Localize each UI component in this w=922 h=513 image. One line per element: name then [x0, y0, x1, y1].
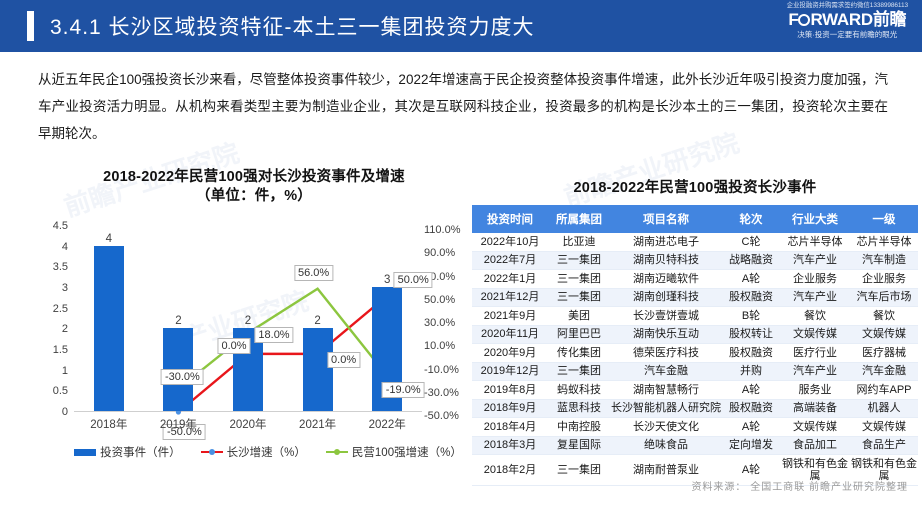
table-row[interactable]: 2019年8月蚂蚁科技湖南智慧畅行A轮服务业网约车APP: [472, 381, 918, 400]
table-cell: 三一集团: [548, 288, 610, 307]
chart-bar: [94, 246, 124, 411]
table-cell: 三一集团: [548, 251, 610, 270]
table-cell: 汽车产业: [780, 362, 850, 381]
table-cell: 湖南快乐互动: [610, 325, 722, 344]
data-point-label: -30.0%: [161, 369, 204, 385]
x-axis-tick: 2018年: [90, 416, 127, 432]
table-row[interactable]: 2022年7月三一集团湖南贝特科技战略融资汽车产业汽车制造: [472, 251, 918, 270]
legend-item[interactable]: 投资事件（件）: [74, 444, 181, 460]
legend-label: 长沙增速（%）: [227, 444, 306, 460]
table-cell: 湖南迈曦软件: [610, 270, 722, 289]
x-axis-tick: 2021年: [299, 416, 336, 432]
table-cell: 湖南智慧畅行: [610, 381, 722, 400]
y-axis-left-tick: 3.5: [53, 261, 68, 273]
source-note: 资料来源： 全国工商联 前瞻产业研究院整理: [691, 478, 908, 493]
table-row[interactable]: 2018年4月中南控股长沙天使文化A轮文娱传媒文娱传媒: [472, 418, 918, 437]
table-cell: 文娱传媒: [850, 325, 918, 344]
table-cell: 医疗器械: [850, 344, 918, 363]
table-row[interactable]: 2021年9月美团长沙壹饼壹城B轮餐饮餐饮: [472, 307, 918, 326]
brand-slogan: 决策·投资一定要有前瞻的眼光: [787, 31, 908, 40]
table-column-header[interactable]: 所属集团: [548, 205, 610, 233]
table-cell: 长沙天使文化: [610, 418, 722, 437]
table-cell: 股权融资: [722, 288, 780, 307]
header-accent-bar: [27, 11, 34, 41]
chart-title-line1: 2018-2022年民营100强对长沙投资事件及增速: [34, 168, 474, 187]
table-cell: 企业服务: [850, 270, 918, 289]
table-cell: 汽车制造: [850, 251, 918, 270]
table-cell: 股权融资: [722, 344, 780, 363]
x-axis-tick: 2020年: [229, 416, 266, 432]
table-cell: 食品生产: [850, 436, 918, 455]
table-cell: 股权融资: [722, 399, 780, 418]
table-cell: 长沙智能机器人研究院: [610, 399, 722, 418]
table-cell: 并购: [722, 362, 780, 381]
table-row[interactable]: 2020年11月阿里巴巴湖南快乐互动股权转让文娱传媒文娱传媒: [472, 325, 918, 344]
y-axis-right-tick: 110.0%: [424, 224, 461, 236]
table-cell: 三一集团: [548, 362, 610, 381]
table-row[interactable]: 2021年12月三一集团湖南创瑾科技股权融资汽车产业汽车后市场: [472, 288, 918, 307]
table-cell: 2021年9月: [472, 307, 548, 326]
brand-contact-text: 企业投融资并购需求签约微信13389986113: [787, 2, 908, 9]
table-cell: 2022年7月: [472, 251, 548, 270]
legend-bar-swatch-icon: [74, 449, 96, 456]
y-axis-left-tick: 2: [62, 323, 68, 335]
table-cell: 2022年10月: [472, 233, 548, 251]
table-title: 2018-2022年民营100强投资长沙事件: [472, 176, 918, 197]
x-axis-tick: 2019年: [160, 416, 197, 432]
table-cell: 定向增发: [722, 436, 780, 455]
table-header-row: 投资时间所属集团项目名称轮次行业大类一级: [472, 205, 918, 233]
table-cell: 食品加工: [780, 436, 850, 455]
x-axis-tick: 2022年: [369, 416, 406, 432]
table-column-header[interactable]: 行业大类: [780, 205, 850, 233]
table-cell: 汽车产业: [780, 288, 850, 307]
x-axis: 2018年2019年2020年2021年2022年: [74, 416, 422, 434]
page-title: 3.4.1 长沙区域投资特征-本土三一集团投资力度大: [50, 11, 535, 41]
bar-value-label: 2: [314, 315, 320, 327]
brand-block: 企业投融资并购需求签约微信13389986113 FRWARD前瞻 决策·投资一…: [787, 2, 908, 40]
forward-ring-icon: [798, 14, 810, 26]
y-axis-left: 4.543.532.521.510.50: [34, 226, 68, 412]
table-cell: 汽车后市场: [850, 288, 918, 307]
data-point-label: 50.0%: [394, 272, 433, 288]
table-cell: 文娱传媒: [850, 418, 918, 437]
table-column-header[interactable]: 轮次: [722, 205, 780, 233]
table-cell: 机器人: [850, 399, 918, 418]
table-cell: 绝味食品: [610, 436, 722, 455]
table-cell: B轮: [722, 307, 780, 326]
table-cell: 比亚迪: [548, 233, 610, 251]
table-column-header[interactable]: 投资时间: [472, 205, 548, 233]
chart-plot-wrap: 4.543.532.521.510.50 110.0%90.0%70.0%50.…: [34, 216, 474, 448]
table-cell: 湖南创瑾科技: [610, 288, 722, 307]
table-row[interactable]: 2022年10月比亚迪湖南进芯电子C轮芯片半导体芯片半导体: [472, 233, 918, 251]
table-cell: A轮: [722, 418, 780, 437]
table-cell: C轮: [722, 233, 780, 251]
table-cell: 中南控股: [548, 418, 610, 437]
table-cell: 汽车金融: [610, 362, 722, 381]
brand-logo: FRWARD前瞻: [787, 10, 908, 30]
table-cell: 蓝思科技: [548, 399, 610, 418]
y-axis-left-tick: 1: [62, 365, 68, 377]
y-axis-right-tick: 50.0%: [424, 294, 455, 306]
events-table-panel: 2018-2022年民营100强投资长沙事件 投资时间所属集团项目名称轮次行业大…: [472, 176, 918, 486]
legend-item[interactable]: 民营100强增速（%）: [326, 444, 462, 460]
bar-value-label: 2: [175, 315, 181, 327]
table-cell: 战略融资: [722, 251, 780, 270]
y-axis-left-tick: 0: [62, 406, 68, 418]
data-point-label: 18.0%: [254, 327, 293, 343]
data-point-label: 56.0%: [294, 265, 333, 281]
brand-logo-pre: F: [788, 10, 798, 29]
y-axis-right-tick: -10.0%: [424, 364, 459, 376]
data-point-label: 0.0%: [217, 338, 250, 354]
table-cell: 传化集团: [548, 344, 610, 363]
table-cell: 2018年3月: [472, 436, 548, 455]
table-cell: A轮: [722, 381, 780, 400]
table-cell: 汽车金融: [850, 362, 918, 381]
slide-page: 3.4.1 长沙区域投资特征-本土三一集团投资力度大 企业投融资并购需求签约微信…: [0, 0, 922, 513]
bar-value-label: 2: [245, 315, 251, 327]
legend-label: 民营100强增速（%）: [352, 444, 462, 460]
table-cell: 网约车APP: [850, 381, 918, 400]
table-cell: A轮: [722, 270, 780, 289]
table-cell: 2018年4月: [472, 418, 548, 437]
table-cell: 复星国际: [548, 436, 610, 455]
table-cell: 2018年9月: [472, 399, 548, 418]
y-axis-left-tick: 1.5: [53, 344, 68, 356]
chart-title-line2: （单位：件，%）: [34, 187, 474, 206]
legend-item[interactable]: 长沙增速（%）: [201, 444, 306, 460]
y-axis-left-tick: 4: [62, 241, 68, 253]
bar-value-label: 4: [106, 233, 112, 245]
legend-line-swatch-icon: [201, 447, 223, 457]
plot-area: 42223-50.0%0.0%0.0%50.0%-30.0%18.0%56.0%…: [74, 226, 422, 412]
data-point-label: 0.0%: [327, 352, 360, 368]
table-cell: 德荣医疗科技: [610, 344, 722, 363]
table-cell: 2019年8月: [472, 381, 548, 400]
y-axis-right-tick: -30.0%: [424, 387, 459, 399]
table-cell: 美团: [548, 307, 610, 326]
table-cell: 文娱传媒: [780, 418, 850, 437]
table-cell: 湖南进芯电子: [610, 233, 722, 251]
bar-value-label: 3: [384, 274, 390, 286]
data-point-label: -19.0%: [382, 382, 425, 398]
table-cell: 三一集团: [548, 270, 610, 289]
intro-paragraph: 从近五年民企100强投资长沙来看，尽管整体投资事件较少，2022年增速高于民企投…: [38, 66, 888, 147]
chart-title: 2018-2022年民营100强对长沙投资事件及增速 （单位：件，%）: [34, 168, 474, 206]
investment-chart: 2018-2022年民营100强对长沙投资事件及增速 （单位：件，%） 4.54…: [34, 168, 474, 508]
events-table: 投资时间所属集团项目名称轮次行业大类一级 2022年10月比亚迪湖南进芯电子C轮…: [472, 205, 918, 486]
table-column-header[interactable]: 项目名称: [610, 205, 722, 233]
y-axis-right-tick: 30.0%: [424, 317, 455, 329]
y-axis-right-tick: 90.0%: [424, 247, 455, 259]
table-cell: 2021年12月: [472, 288, 548, 307]
table-cell: 餐饮: [850, 307, 918, 326]
table-cell: 阿里巴巴: [548, 325, 610, 344]
table-cell: 汽车产业: [780, 251, 850, 270]
chart-bar: [303, 328, 333, 411]
y-axis-left-tick: 4.5: [53, 220, 68, 232]
table-cell: 湖南贝特科技: [610, 251, 722, 270]
table-cell: 服务业: [780, 381, 850, 400]
table-body: 2022年10月比亚迪湖南进芯电子C轮芯片半导体芯片半导体2022年7月三一集团…: [472, 233, 918, 486]
y-axis-left-tick: 3: [62, 282, 68, 294]
table-cell: 文娱传媒: [780, 325, 850, 344]
table-cell: 企业服务: [780, 270, 850, 289]
table-cell: 三一集团: [548, 455, 610, 486]
table-cell: 餐饮: [780, 307, 850, 326]
table-cell: 医疗行业: [780, 344, 850, 363]
chart-legend: 投资事件（件）长沙增速（%）民营100强增速（%）: [58, 444, 478, 460]
table-cell: 2022年1月: [472, 270, 548, 289]
legend-label: 投资事件（件）: [100, 444, 181, 460]
slide-header: 3.4.1 长沙区域投资特征-本土三一集团投资力度大 企业投融资并购需求签约微信…: [0, 0, 922, 52]
y-axis-left-tick: 2.5: [53, 303, 68, 315]
table-cell: 2019年12月: [472, 362, 548, 381]
table-column-header[interactable]: 一级: [850, 205, 918, 233]
table-cell: 2020年11月: [472, 325, 548, 344]
brand-logo-post: RWARD前瞻: [810, 10, 906, 29]
table-cell: 芯片半导体: [850, 233, 918, 251]
legend-line-swatch-icon: [326, 447, 348, 457]
table-row[interactable]: 2022年1月三一集团湖南迈曦软件A轮企业服务企业服务: [472, 270, 918, 289]
table-cell: 长沙壹饼壹城: [610, 307, 722, 326]
y-axis-right-tick: 10.0%: [424, 340, 455, 352]
y-axis-right-tick: -50.0%: [424, 410, 459, 422]
y-axis-left-tick: 0.5: [53, 385, 68, 397]
table-row[interactable]: 2020年9月传化集团德荣医疗科技股权融资医疗行业医疗器械: [472, 344, 918, 363]
table-cell: 2020年9月: [472, 344, 548, 363]
table-cell: 蚂蚁科技: [548, 381, 610, 400]
table-row[interactable]: 2018年9月蓝思科技长沙智能机器人研究院股权融资高端装备机器人: [472, 399, 918, 418]
table-cell: 高端装备: [780, 399, 850, 418]
table-cell: 股权转让: [722, 325, 780, 344]
table-cell: 2018年2月: [472, 455, 548, 486]
table-head: 投资时间所属集团项目名称轮次行业大类一级: [472, 205, 918, 233]
table-row[interactable]: 2018年3月复星国际绝味食品定向增发食品加工食品生产: [472, 436, 918, 455]
table-cell: 芯片半导体: [780, 233, 850, 251]
table-row[interactable]: 2019年12月三一集团汽车金融并购汽车产业汽车金融: [472, 362, 918, 381]
